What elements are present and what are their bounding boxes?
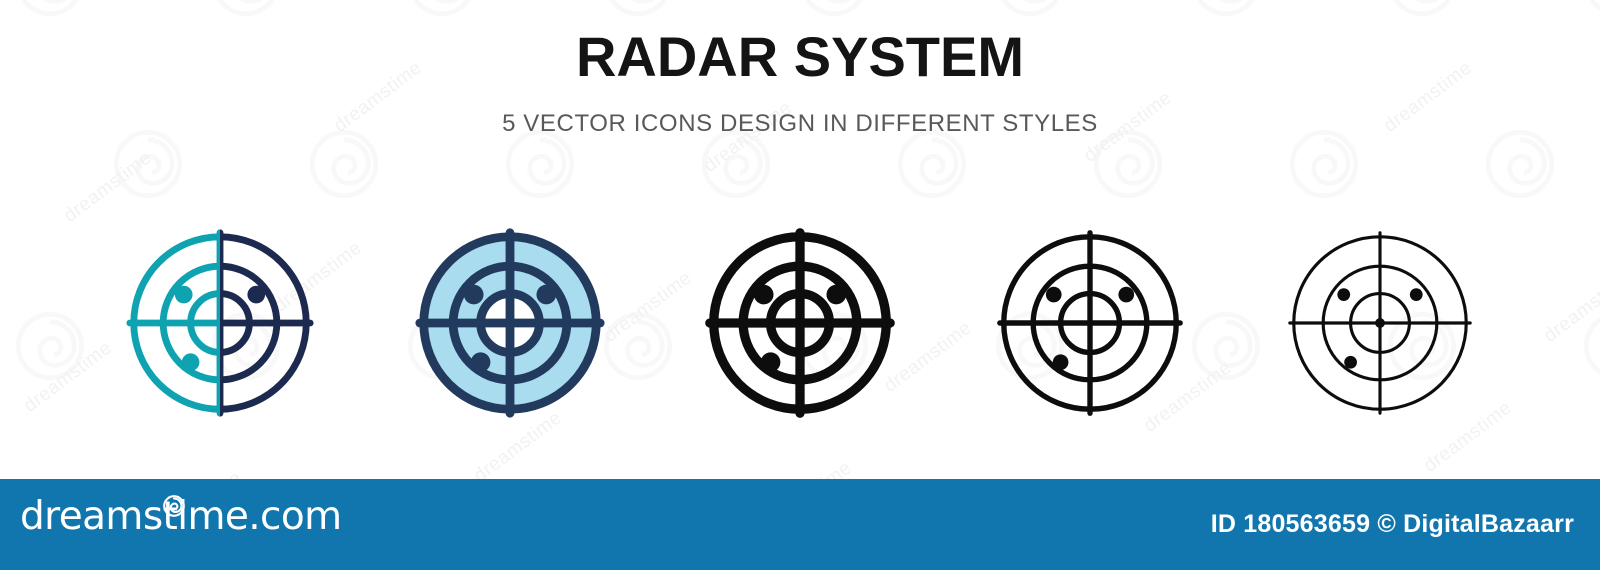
footer-bar: dreamstime.com ID 180563659 © DigitalBaz… xyxy=(0,479,1600,570)
header: RADAR SYSTEM 5 VECTOR ICONS DESIGN IN DI… xyxy=(0,0,1600,138)
page-title: RADAR SYSTEM xyxy=(0,0,1600,87)
spiral-logo-icon xyxy=(161,493,187,519)
thin-center-dot xyxy=(1375,318,1385,328)
icon-cell-thin[interactable] xyxy=(1235,205,1525,440)
bold-rings xyxy=(710,232,890,412)
icon-cell-regular[interactable] xyxy=(945,205,1235,440)
page-subtitle: 5 VECTOR ICONS DESIGN IN DIFFERENT STYLE… xyxy=(0,87,1600,138)
radar-system-icon-thin[interactable] xyxy=(1282,225,1478,421)
radar-system-icon-duotone[interactable] xyxy=(122,225,318,421)
radar-system-icon-regular[interactable] xyxy=(992,225,1188,421)
dreamstime-logo[interactable]: dreamstime.com xyxy=(20,497,342,536)
icon-cell-filled[interactable] xyxy=(365,205,655,440)
icon-cell-bold[interactable] xyxy=(655,205,945,440)
duotone-right-blips xyxy=(247,285,265,303)
stock-image-canvas: dreamstimedreamstimedreamstimedreamstime… xyxy=(0,0,1600,570)
radar-system-icon-filled[interactable] xyxy=(412,225,608,421)
icon-row xyxy=(0,205,1600,440)
regular-rings xyxy=(1000,232,1180,412)
image-credit: ID 180563659 © DigitalBazaarr xyxy=(1211,479,1574,570)
icon-cell-duotone[interactable] xyxy=(75,205,365,440)
radar-system-icon-bold[interactable] xyxy=(702,225,898,421)
